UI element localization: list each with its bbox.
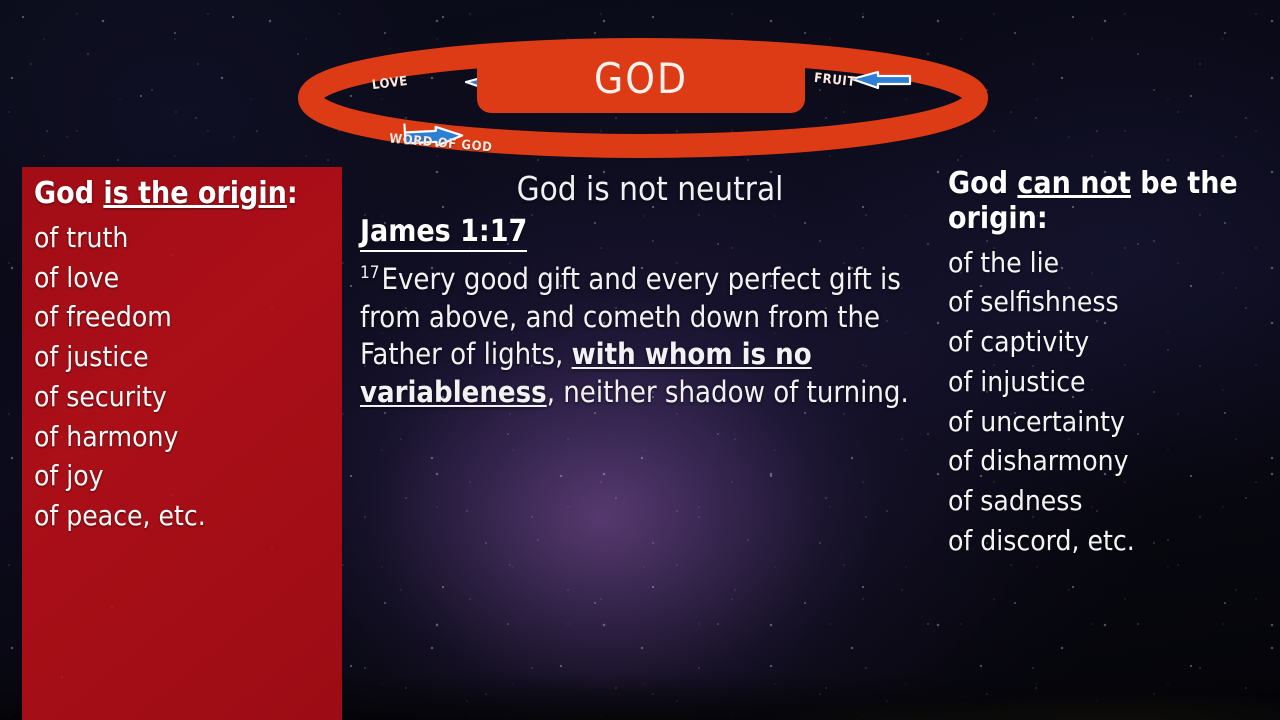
list-item: of security: [34, 377, 342, 417]
left-heading-prefix: God: [34, 176, 103, 211]
right-panel-heading: God can not be the origin:: [948, 167, 1268, 237]
list-item: of justice: [34, 337, 342, 377]
verse-body: 17Every good gift and every perfect gift…: [360, 261, 940, 412]
list-item: of harmony: [34, 417, 342, 457]
list-item: of uncertainty: [948, 402, 1268, 442]
list-item: of joy: [34, 456, 342, 496]
center-column: God is not neutral James 1:17 17Every go…: [360, 170, 940, 412]
list-item: of discord, etc.: [948, 521, 1268, 561]
verse-text-part2: , neither shadow of turning.: [547, 375, 909, 409]
list-item: of injustice: [948, 362, 1268, 402]
list-item: of the lie: [948, 243, 1268, 283]
right-panel-god-cannot-be-origin: God can not be the origin: of the lie of…: [948, 167, 1268, 720]
right-panel-list: of the lie of selfishness of captivity o…: [948, 243, 1268, 561]
slide-canvas: GOD LOVE FRUIT WORD OF GOD God is the or…: [0, 0, 1280, 720]
right-heading-underlined: can not: [1017, 166, 1130, 201]
left-panel-god-is-origin: God is the origin: of truth of love of f…: [22, 167, 342, 720]
list-item: of sadness: [948, 481, 1268, 521]
left-heading-underlined: is the origin: [103, 176, 286, 211]
list-item: of disharmony: [948, 441, 1268, 481]
list-item: of captivity: [948, 322, 1268, 362]
list-item: of love: [34, 258, 342, 298]
verse-reference-wrap: James 1:17: [360, 214, 940, 257]
god-label: GOD: [594, 58, 688, 100]
list-item: of truth: [34, 218, 342, 258]
left-panel-list: of truth of love of freedom of justice o…: [34, 218, 342, 536]
page-title: God is not neutral: [360, 170, 940, 208]
verse-reference: James 1:17: [360, 214, 527, 252]
list-item: of peace, etc.: [34, 496, 342, 536]
cycle-diagram: GOD LOVE FRUIT WORD OF GOD: [296, 38, 990, 168]
left-heading-suffix: :: [287, 176, 298, 211]
god-center-box: GOD: [477, 45, 805, 113]
right-heading-prefix: God: [948, 166, 1017, 201]
list-item: of freedom: [34, 297, 342, 337]
list-item: of selfishness: [948, 282, 1268, 322]
verse-number: 17: [360, 263, 381, 283]
left-panel-heading: God is the origin:: [34, 177, 342, 212]
